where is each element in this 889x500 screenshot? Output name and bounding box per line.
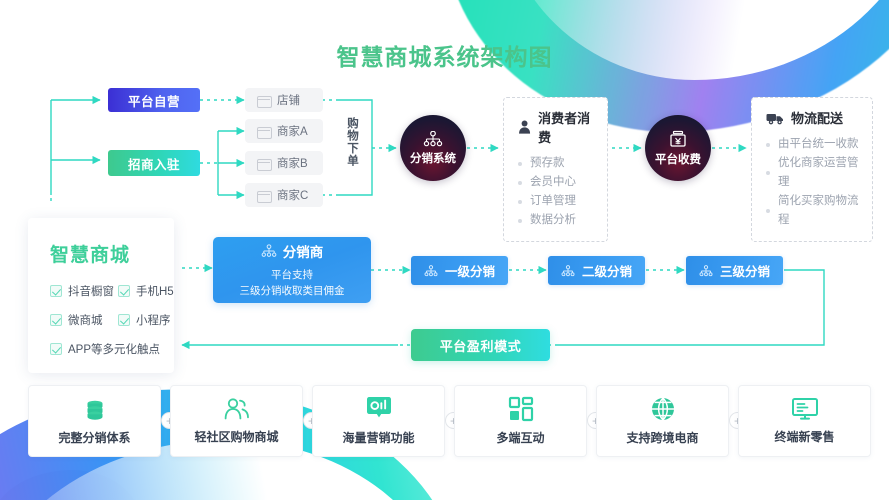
check-icon xyxy=(50,285,62,297)
node-platform-self-operated[interactable]: 平台自营 xyxy=(108,88,200,112)
node-label: 招商入驻 xyxy=(128,154,180,173)
panel-item: 会员中心 xyxy=(518,173,595,192)
store-item-merchant-a[interactable]: 商家A xyxy=(245,119,323,143)
panel-item: 简化买家购物流程 xyxy=(766,192,860,230)
checkbox-mini-program[interactable]: 小程序 xyxy=(118,312,171,328)
check-icon xyxy=(50,314,62,326)
shop-icon xyxy=(257,94,270,106)
panel-item-list: 预存款 会员中心 订单管理 数据分析 xyxy=(518,154,595,230)
checkbox-mobile-h5[interactable]: 手机H5 xyxy=(118,283,174,299)
checkbox-row: 微商城 小程序 xyxy=(50,312,174,328)
node-platform-profit-model[interactable]: 平台盈利模式 xyxy=(411,329,550,361)
feature-label: 海量营销功能 xyxy=(342,429,414,446)
check-icon xyxy=(50,343,62,355)
node-distributor[interactable]: 分销商 平台支持 三级分销收取类目佣金 xyxy=(213,237,371,303)
people-icon xyxy=(223,397,251,421)
node-platform-fee[interactable]: 平台收费 xyxy=(645,115,711,181)
store-label: 商家B xyxy=(277,155,308,171)
node-merchant-onboarding[interactable]: 招商入驻 xyxy=(108,150,200,176)
circle-label: 分销系统 xyxy=(410,150,456,166)
distributor-sub-line-1: 平台支持 xyxy=(240,267,345,283)
shop-icon xyxy=(257,157,270,169)
node-label: 平台自营 xyxy=(128,91,180,110)
level-label: 一级分销 xyxy=(445,261,495,280)
panel-consumer-spending: 消费者消费 预存款 会员中心 订单管理 数据分析 xyxy=(503,97,608,242)
checkbox-app-multi-touchpoint[interactable]: APP等多元化触点 xyxy=(50,341,160,357)
store-label: 店铺 xyxy=(277,92,300,108)
shop-icon xyxy=(257,189,270,201)
panel-header: 物流配送 xyxy=(766,108,860,127)
truck-icon xyxy=(766,111,784,125)
level-label: 三级分销 xyxy=(720,261,770,280)
node-distribution-system[interactable]: 分销系统 xyxy=(400,115,466,181)
feature-card-light-community-mall[interactable]: 轻社区购物商城 xyxy=(170,385,303,457)
panel-header: 消费者消费 xyxy=(518,108,595,146)
panel-item-list: 由平台统一收款 优化商家运营管理 简化买家购物流程 xyxy=(766,135,860,230)
hierarchy-icon xyxy=(261,244,277,258)
checkbox-wechat-mall[interactable]: 微商城 xyxy=(50,312,118,328)
distributor-subtitle: 平台支持 三级分销收取类目佣金 xyxy=(240,267,345,299)
feature-label: 轻社区购物商城 xyxy=(194,428,278,445)
circle-label: 平台收费 xyxy=(655,151,701,167)
node-level-3-distribution[interactable]: 三级分销 xyxy=(686,256,783,285)
checkbox-label: APP等多元化触点 xyxy=(68,341,160,357)
check-icon xyxy=(118,285,130,297)
store-item-shop[interactable]: 店铺 xyxy=(245,88,323,112)
feature-card-distribution-system[interactable]: 完整分销体系 xyxy=(28,385,161,457)
marketing-chart-icon xyxy=(365,396,393,422)
checkbox-label: 手机H5 xyxy=(136,283,174,299)
feature-card-multi-terminal[interactable]: 多端互动 xyxy=(454,385,587,457)
hierarchy-icon xyxy=(423,131,443,147)
checkbox-label: 小程序 xyxy=(136,312,171,328)
card-title: 智慧商城 xyxy=(50,240,174,267)
architecture-diagram-page: 智慧商城系统架构图 xyxy=(0,0,889,500)
globe-icon xyxy=(650,396,676,422)
checkbox-label: 抖音橱窗 xyxy=(68,283,114,299)
feature-label: 终端新零售 xyxy=(774,428,834,445)
checkbox-label: 微商城 xyxy=(68,312,103,328)
feature-label: 完整分销体系 xyxy=(58,429,130,446)
hierarchy-icon xyxy=(424,265,438,277)
shopping-order-label: 购物下单 xyxy=(344,117,360,167)
feature-card-cross-border[interactable]: 支持跨境电商 xyxy=(596,385,729,457)
store-item-merchant-b[interactable]: 商家B xyxy=(245,151,323,175)
money-box-icon xyxy=(668,130,688,148)
feature-label: 多端互动 xyxy=(496,429,544,446)
checkbox-douyin-window[interactable]: 抖音橱窗 xyxy=(50,283,118,299)
store-item-merchant-c[interactable]: 商家C xyxy=(245,183,323,207)
panel-item: 由平台统一收款 xyxy=(766,135,860,154)
profit-label: 平台盈利模式 xyxy=(440,336,522,355)
feature-card-marketing-functions[interactable]: 海量营销功能 xyxy=(312,385,445,457)
store-label: 商家A xyxy=(277,123,308,139)
panel-item: 预存款 xyxy=(518,154,595,173)
shop-icon xyxy=(257,125,270,137)
feature-card-new-retail[interactable]: 终端新零售 xyxy=(738,385,871,457)
panel-item: 优化商家运营管理 xyxy=(766,154,860,192)
feature-label: 支持跨境电商 xyxy=(626,429,698,446)
panel-logistics-delivery: 物流配送 由平台统一收款 优化商家运营管理 简化买家购物流程 xyxy=(751,97,873,242)
distributor-title: 分销商 xyxy=(283,241,324,261)
panel-title: 消费者消费 xyxy=(538,108,595,146)
panel-item: 数据分析 xyxy=(518,211,595,230)
store-label: 商家C xyxy=(277,187,308,203)
checkbox-row: APP等多元化触点 xyxy=(50,341,174,357)
check-icon xyxy=(118,314,130,326)
panel-title: 物流配送 xyxy=(791,108,843,127)
distributor-header: 分销商 xyxy=(261,241,324,261)
node-level-1-distribution[interactable]: 一级分销 xyxy=(411,256,508,285)
node-level-2-distribution[interactable]: 二级分销 xyxy=(548,256,645,285)
level-label: 二级分销 xyxy=(582,261,632,280)
card-smart-mall: 智慧商城 抖音橱窗 手机H5 微商城 小程序 A xyxy=(28,218,174,373)
distributor-sub-line-2: 三级分销收取类目佣金 xyxy=(240,283,345,299)
person-icon xyxy=(518,119,531,135)
coins-icon xyxy=(82,396,108,422)
monitor-icon xyxy=(791,397,819,421)
checkbox-row: 抖音橱窗 手机H5 xyxy=(50,283,174,299)
multi-device-icon xyxy=(508,396,534,422)
panel-item: 订单管理 xyxy=(518,192,595,211)
hierarchy-icon xyxy=(561,265,575,277)
hierarchy-icon xyxy=(699,265,713,277)
